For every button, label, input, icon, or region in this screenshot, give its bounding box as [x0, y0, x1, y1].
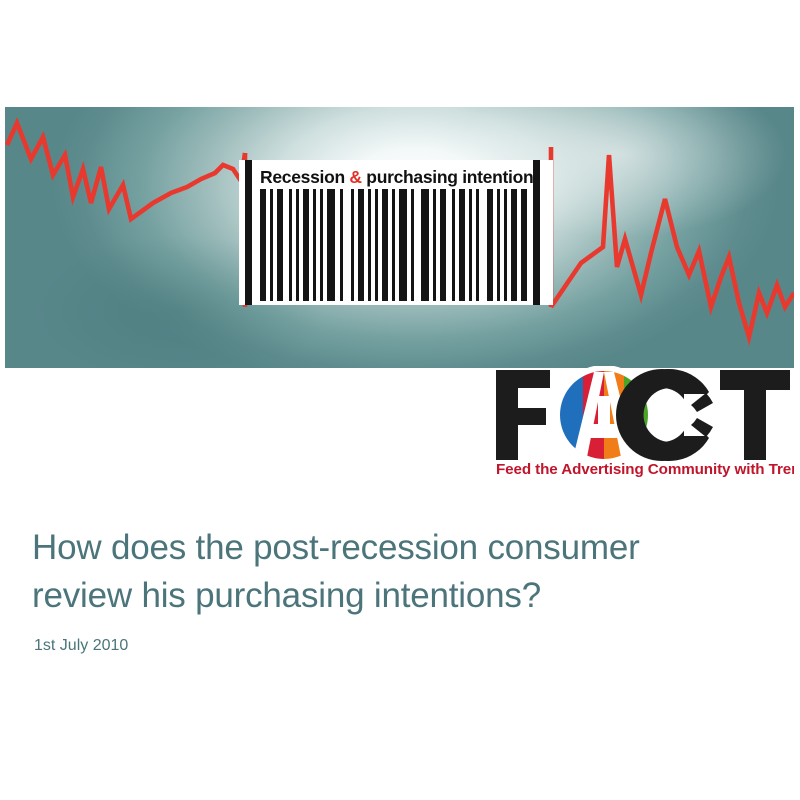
page-title: How does the post-recession consumer rev… — [32, 524, 762, 620]
barcode-bar — [382, 189, 388, 301]
barcode-bar — [476, 189, 479, 301]
barcode-bar — [433, 189, 436, 301]
barcode-bar — [296, 189, 299, 301]
barcode-bar — [521, 189, 527, 301]
barcode-bar — [392, 189, 395, 301]
barcode-bar — [469, 189, 472, 301]
barcode-bar — [260, 189, 266, 301]
barcode-bar — [351, 189, 354, 301]
barcode-caption-ampersand: & — [349, 167, 361, 187]
fact-logo-letter-f — [496, 370, 550, 460]
barcode-bar — [320, 189, 323, 301]
barcode-bar — [399, 189, 407, 301]
barcode-bar — [411, 189, 414, 301]
barcode-bars — [239, 189, 553, 305]
fact-logo-tagline: Feed the Advertising Community with Tren… — [496, 461, 794, 478]
barcode-bar — [459, 189, 465, 301]
barcode-bar — [504, 189, 507, 301]
barcode-bar — [340, 189, 343, 301]
barcode-bar — [452, 189, 455, 301]
barcode-guard-bar-left — [245, 160, 252, 305]
title-block: How does the post-recession consumer rev… — [32, 524, 762, 656]
fact-logo-letter-t — [720, 370, 790, 460]
fact-logo-letter-c — [616, 369, 714, 461]
barcode-bar — [497, 189, 500, 301]
barcode-bar — [289, 189, 292, 301]
barcode-bar — [313, 189, 316, 301]
barcode-caption-prefix: Recession — [260, 167, 349, 187]
slide-date: 1st July 2010 — [34, 636, 762, 656]
barcode-bar — [327, 189, 335, 301]
title-slide: Recession & purchasing intention — [0, 0, 800, 800]
barcode-bar — [358, 189, 364, 301]
barcode-bar — [277, 189, 283, 301]
fact-logo-graphic: Feed the Advertising Community with Tren… — [494, 366, 794, 478]
barcode-guard-bar-right — [533, 160, 540, 305]
barcode-bar — [303, 189, 309, 301]
barcode-bar — [375, 189, 378, 301]
barcode-bar — [270, 189, 273, 301]
barcode-bar — [421, 189, 429, 301]
barcode-bar — [487, 189, 493, 301]
barcode-bar — [511, 189, 517, 301]
fact-logo: Feed the Advertising Community with Tren… — [494, 366, 794, 478]
barcode-graphic: Recession & purchasing intention — [239, 160, 553, 305]
barcode-caption: Recession & purchasing intention — [260, 165, 536, 189]
barcode-bar — [440, 189, 446, 301]
barcode-caption-suffix: purchasing intention — [362, 167, 534, 187]
recession-hero-banner: Recession & purchasing intention — [5, 107, 794, 368]
barcode-bar — [368, 189, 371, 301]
